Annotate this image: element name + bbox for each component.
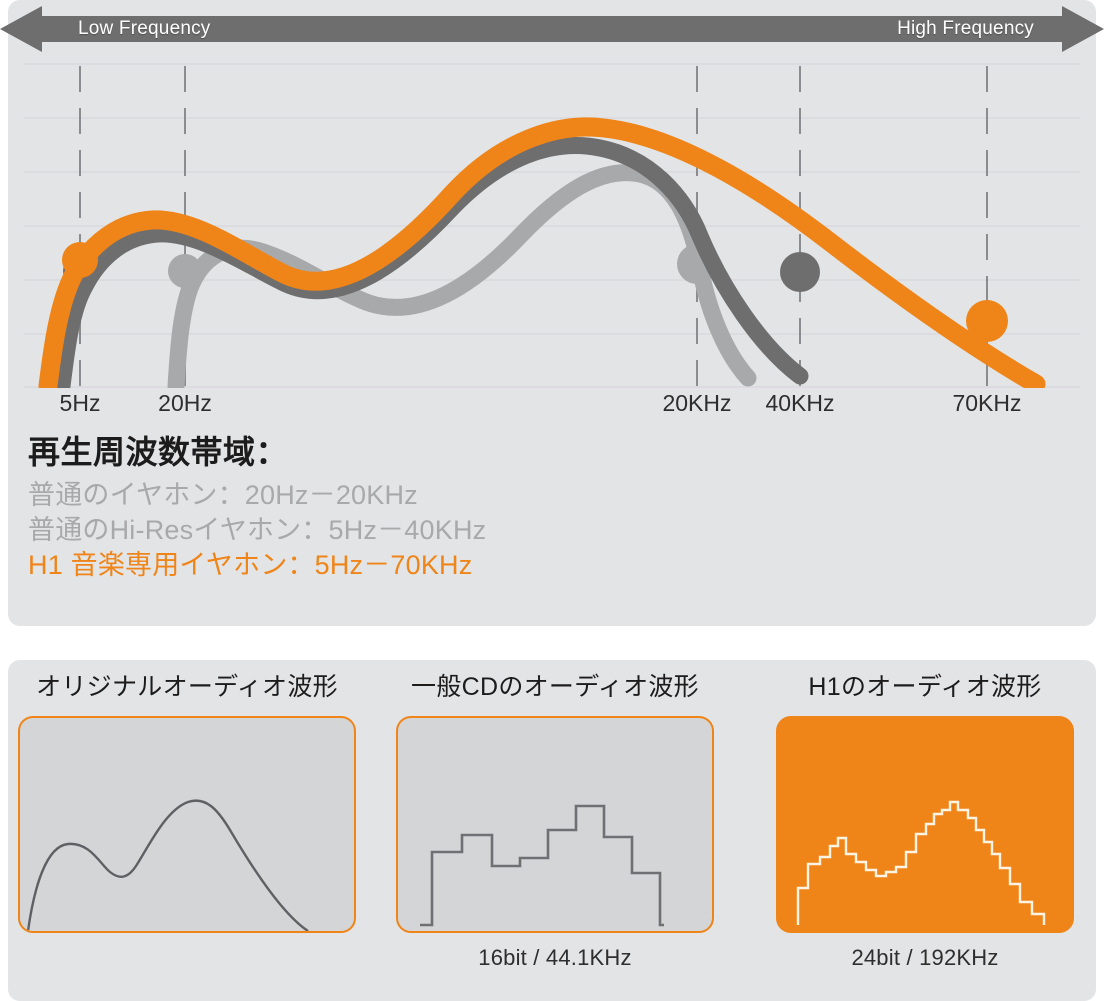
waveform-title-h1: H1のオーディオ波形 — [776, 672, 1074, 702]
x-tick-label-5hz: 5Hz — [60, 390, 101, 417]
series-marker-normal-start — [168, 254, 202, 288]
frequency-arrow-bar: Low Frequency High Frequency — [0, 6, 1104, 52]
waveform-card-h1: H1のオーディオ波形 24bit / 192KHz — [776, 672, 1074, 971]
waveform-card-cd: 一般CDのオーディオ波形 16bit / 44.1KHz — [396, 672, 714, 971]
waveform-title-cd: 一般CDのオーディオ波形 — [396, 672, 714, 702]
x-tick-label-40khz: 40KHz — [765, 390, 834, 417]
legend-line-normal-earphone: 普通のイヤホン：20Hz－20KHz — [28, 478, 788, 513]
waveform-caption-h1: 24bit / 192KHz — [776, 945, 1074, 971]
waveform-box-cd — [396, 716, 714, 933]
legend-heading: 再生周波数帯域： — [28, 432, 788, 472]
legend-line-h1-earphone: H1 音楽専用イヤホン：5Hz－70KHz — [28, 548, 788, 583]
legend-line-hires-earphone: 普通のHi-Resイヤホン：5Hz－40KHz — [28, 513, 788, 548]
waveform-card-original: オリジナルオーディオ波形 — [18, 672, 356, 945]
series-line-h1-earphone — [48, 127, 1036, 386]
series-marker-hires-end — [780, 252, 820, 292]
series-marker-h1-start — [62, 242, 98, 278]
waveform-path-fine-steps — [798, 802, 1044, 925]
waveform-title-original: オリジナルオーディオ波形 — [18, 672, 356, 702]
series-marker-h1-end — [966, 300, 1008, 342]
low-frequency-label: Low Frequency — [78, 18, 211, 40]
waveform-caption-cd: 16bit / 44.1KHz — [396, 945, 714, 971]
x-tick-label-70khz: 70KHz — [952, 390, 1021, 417]
waveform-box-original — [18, 716, 356, 933]
high-frequency-label: High Frequency — [897, 18, 1034, 40]
waveform-path-smooth — [28, 801, 308, 931]
x-tick-label-20hz: 20Hz — [158, 390, 212, 417]
frequency-range-legend: 再生周波数帯域： 普通のイヤホン：20Hz－20KHz 普通のHi-Resイヤホ… — [28, 432, 788, 583]
x-tick-label-20khz: 20KHz — [662, 390, 731, 417]
waveform-path-coarse-steps — [420, 806, 664, 925]
frequency-response-chart — [0, 56, 1104, 388]
waveform-box-h1 — [776, 716, 1074, 933]
